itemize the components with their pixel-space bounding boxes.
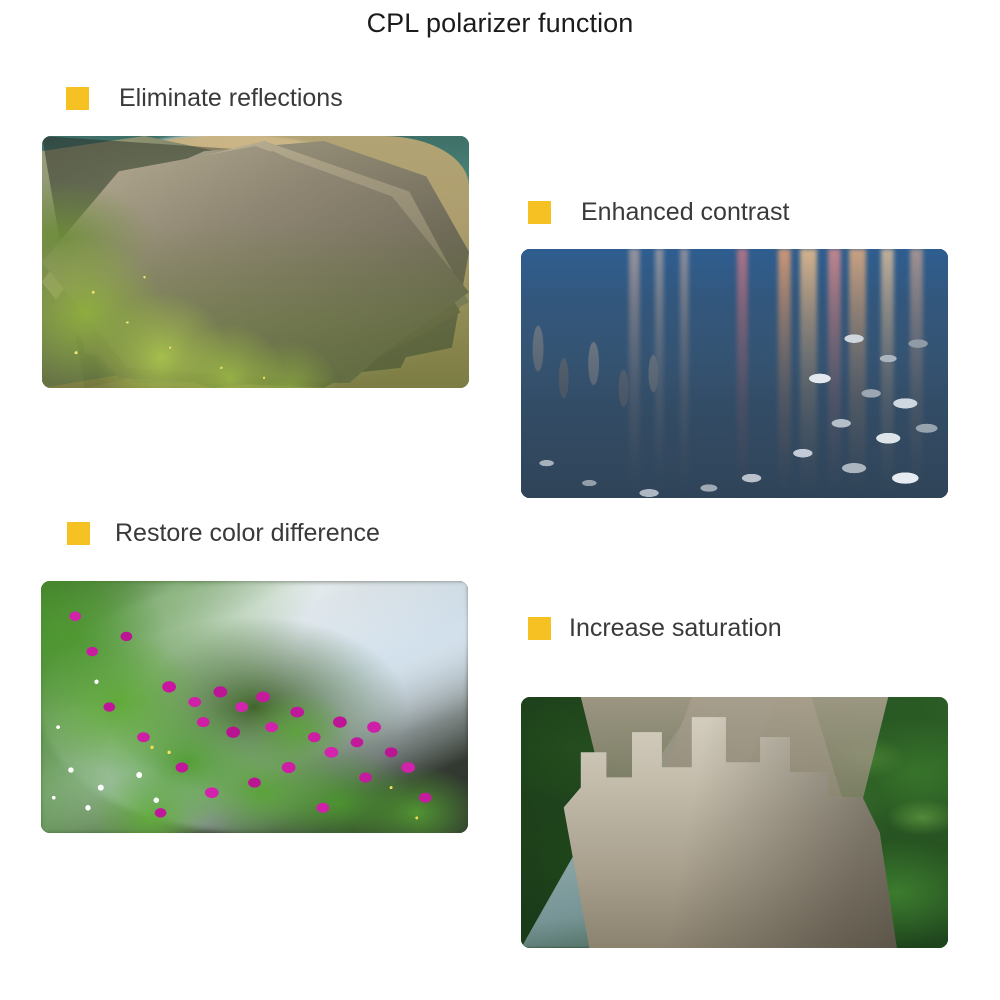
feature-label-restore-color-difference: Restore color difference	[67, 519, 380, 548]
night-city-bridge-photo	[521, 249, 948, 498]
pebble-shore	[521, 249, 948, 498]
yellow-square-bullet-icon	[67, 522, 90, 545]
page-title: CPL polarizer function	[0, 8, 1000, 39]
feature-label-eliminate-reflections: Eliminate reflections	[66, 84, 343, 113]
feature-label-text: Restore color difference	[115, 519, 380, 548]
yellow-wildflowers	[42, 136, 469, 388]
coastal-cove-photo	[42, 136, 469, 388]
feature-label-text: Enhanced contrast	[581, 198, 789, 227]
feature-label-increase-saturation: Increase saturation	[528, 614, 782, 643]
yellow-square-bullet-icon	[528, 617, 551, 640]
castle-forest-photo	[521, 697, 948, 948]
poster-page: CPL polarizer function Eliminate reflect…	[0, 0, 1000, 1000]
feature-label-text: Eliminate reflections	[119, 84, 343, 113]
flowers-stream-photo	[41, 581, 468, 833]
feature-label-text: Increase saturation	[569, 614, 782, 643]
yellow-square-bullet-icon	[528, 201, 551, 224]
white-daisies	[41, 581, 468, 833]
yellow-square-bullet-icon	[66, 87, 89, 110]
feature-label-enhanced-contrast: Enhanced contrast	[528, 198, 789, 227]
